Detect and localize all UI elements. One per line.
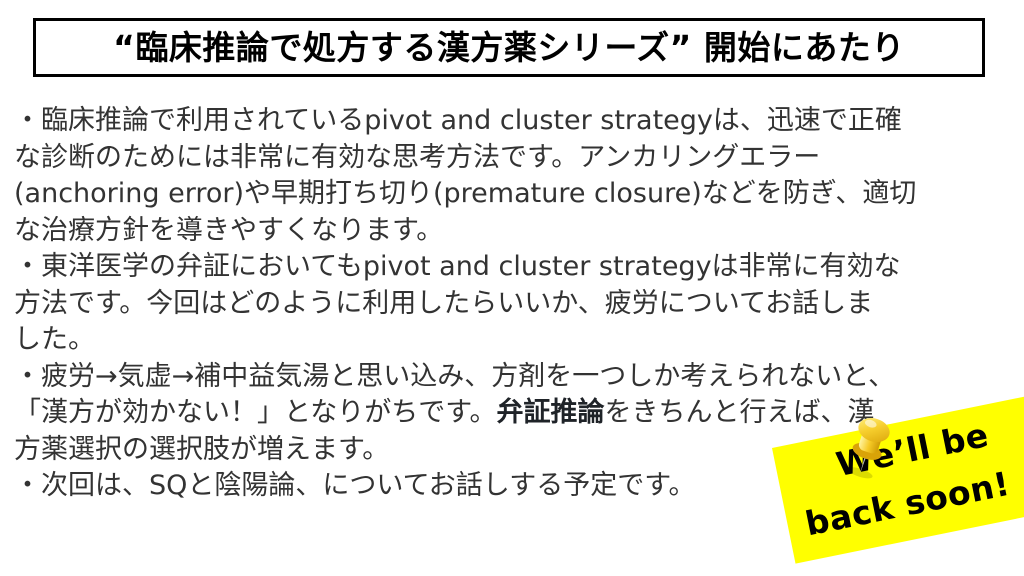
body-line: な治療方針を導きやすくなります。	[14, 213, 1010, 250]
body-line: ・臨床推論で利用されているpivot and cluster strategyは…	[14, 103, 1010, 140]
push-pin-icon	[838, 414, 904, 484]
body-line: した。	[14, 322, 1010, 359]
page-title: “臨床推論で処方する漢方薬シリーズ” 開始にあたり	[113, 31, 905, 64]
body-line: (anchoring error)や早期打ち切り(premature closu…	[14, 176, 1010, 213]
slide-canvas: “臨床推論で処方する漢方薬シリーズ” 開始にあたり ・臨床推論で利用されているp…	[0, 0, 1024, 576]
title-box: “臨床推論で処方する漢方薬シリーズ” 開始にあたり	[33, 18, 985, 77]
body-line: ・東洋医学の弁証においてもpivot and cluster strategyは…	[14, 249, 1010, 286]
body-line: 方法です。今回はどのように利用したらいいか、疲労についてお話しま	[14, 286, 1010, 323]
body-line-text-tail: をきちんと行えば、漢	[605, 397, 875, 428]
body-line: な診断のためには非常に有効な思考方法です。アンカリングエラー	[14, 140, 1010, 177]
emphasis-term: 弁証推論	[497, 397, 605, 428]
body-line-text: 「漢方が効かない！」となりがちです。	[14, 397, 497, 428]
body-line: ・疲労→気虚→補中益気湯と思い込み、方剤を一つしか考えられないと、	[14, 359, 1010, 396]
